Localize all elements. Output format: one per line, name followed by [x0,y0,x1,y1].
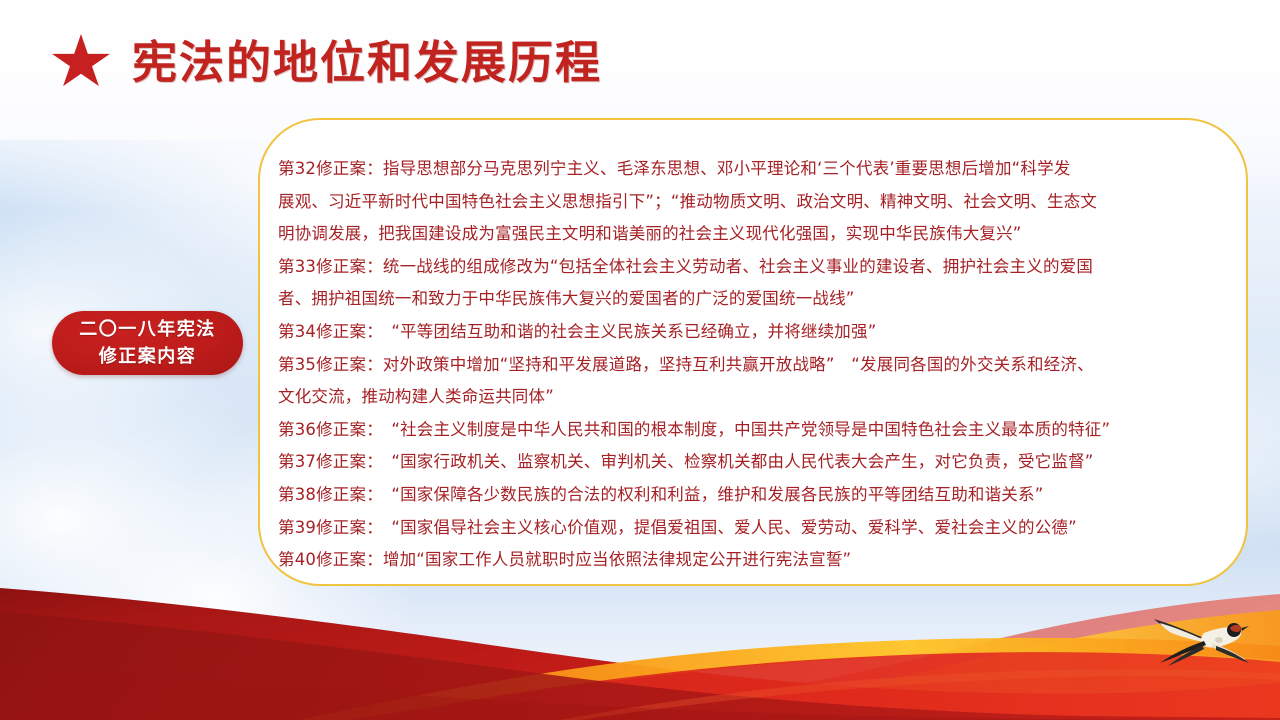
slide-header: 宪法的地位和发展历程 [52,34,602,90]
amendment-line: 第33修正案：统一战线的组成修改为“包括全体社会主义劳动者、社会主义事业的建设者… [278,251,1230,284]
amendment-line: 第39修正案： “国家倡导社会主义核心价值观，提倡爱祖国、爱人民、爱劳动、爱科学… [278,512,1230,545]
section-badge-line-2: 修正案内容 [99,343,197,370]
red-star-icon [52,34,110,90]
swallow-bird-icon [1146,613,1258,669]
section-badge-line-1: 二〇一八年宪法 [79,316,216,343]
amendment-line: 第37修正案： “国家行政机关、监察机关、审判机关、检察机关都由人民代表大会产生… [278,446,1230,479]
amendment-line: 者、拥护祖国统一和致力于中华民族伟大复兴的爱国者的广泛的爱国统一战线” [278,283,1230,316]
amendment-line: 第32修正案：指导思想部分马克思列宁主义、毛泽东思想、邓小平理论和‘三个代表’重… [278,153,1230,186]
slide-canvas: 宪法的地位和发展历程 二〇一八年宪法 修正案内容 第32修正案：指导思想部分马克… [0,0,1280,720]
content-card-body: 第32修正案：指导思想部分马克思列宁主义、毛泽东思想、邓小平理论和‘三个代表’重… [278,153,1230,577]
amendment-line: 文化交流，推动构建人类命运共同体” [278,381,1230,414]
amendment-line: 展观、习近平新时代中国特色社会主义思想指引下”；“推动物质文明、政治文明、精神文… [278,186,1230,219]
amendment-line: 明协调发展，把我国建设成为富强民主文明和谐美丽的社会主义现代化强国，实现中华民族… [278,218,1230,251]
amendment-line: 第35修正案：对外政策中增加“坚持和平发展道路，坚持互利共赢开放战略” “发展同… [278,349,1230,382]
amendment-line: 第34修正案： “平等团结互助和谐的社会主义民族关系已经确立，并将继续加强” [278,316,1230,349]
amendment-line: 第38修正案： “国家保障各少数民族的合法的权利和利益，维护和发展各民族的平等团… [278,479,1230,512]
red-ribbon-wave [0,570,1280,720]
content-card: 第32修正案：指导思想部分马克思列宁主义、毛泽东思想、邓小平理论和‘三个代表’重… [258,118,1248,586]
section-badge: 二〇一八年宪法 修正案内容 [52,311,243,375]
amendment-line: 第36修正案： “社会主义制度是中华人民共和国的根本制度，中国共产党领导是中国特… [278,414,1230,447]
page-title: 宪法的地位和发展历程 [132,40,602,85]
